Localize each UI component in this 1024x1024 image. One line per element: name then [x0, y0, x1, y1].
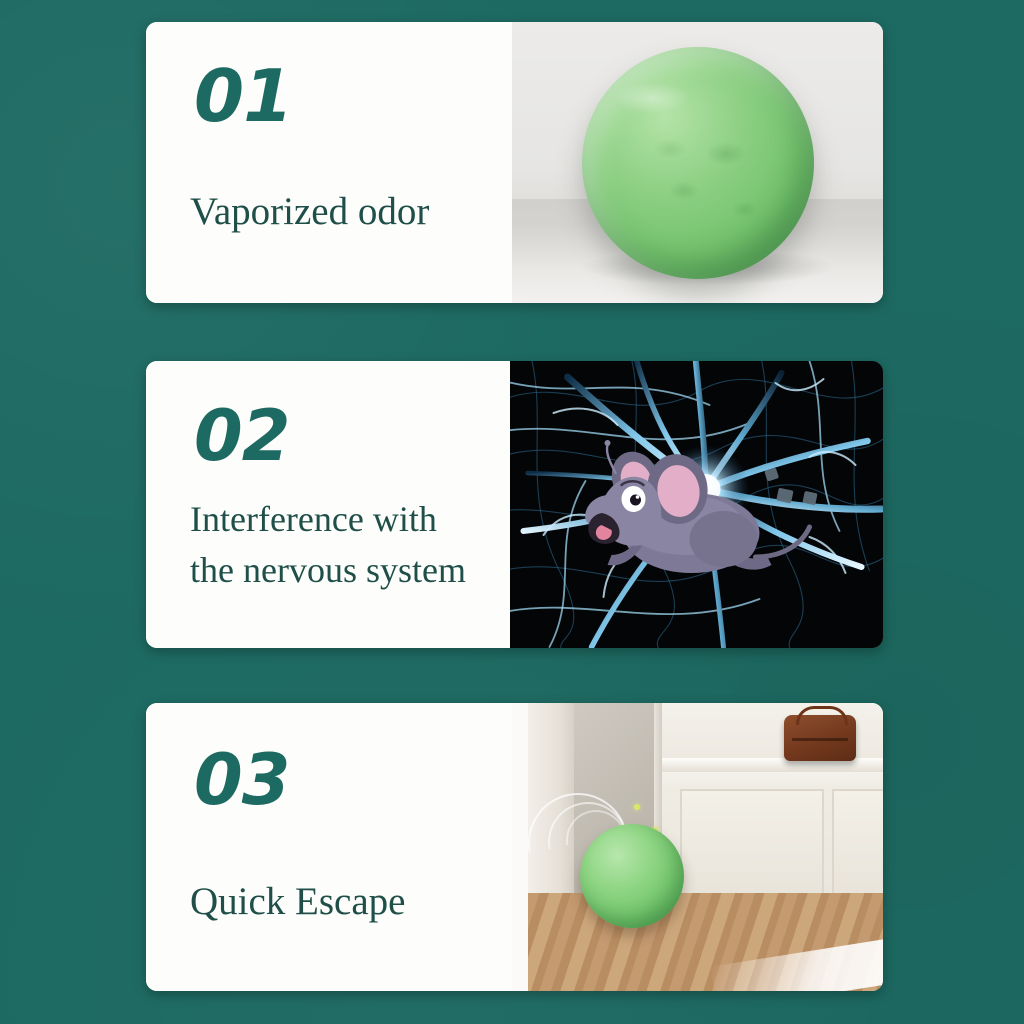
green-ball	[582, 47, 814, 279]
room-ball-photo	[512, 703, 883, 991]
room-left-white-strip	[512, 703, 528, 991]
feature-card-1[interactable]: 01 Vaporized odor	[146, 22, 883, 303]
green-ball-rolling	[580, 824, 684, 928]
green-ball-product-photo	[512, 22, 883, 303]
card-1-label-line-1: Vaporized odor	[190, 184, 482, 239]
card-2-step-number: 02	[194, 403, 480, 470]
spark-dot-1	[634, 804, 640, 810]
brown-bag	[784, 715, 856, 761]
card-2-label-line-1: Interference with	[190, 494, 480, 545]
card-3-media	[512, 703, 883, 991]
feature-card-2[interactable]: 02 Interference with the nervous system	[146, 361, 883, 648]
infographic-page: 01 Vaporized odor 02 Interference with t…	[0, 0, 1024, 1024]
card-3-step-number: 03	[194, 747, 482, 814]
card-3-text-panel: 03 Quick Escape	[146, 703, 512, 991]
card-1-step-number: 01	[194, 62, 482, 130]
cabinet-panel-right	[832, 789, 883, 897]
card-2-label: Interference with the nervous system	[190, 494, 480, 596]
wooden-floor	[528, 893, 883, 991]
card-1-text-panel: 01 Vaporized odor	[146, 22, 512, 303]
cabinet-panel-left	[680, 789, 824, 897]
card-3-label-line-1: Quick Escape	[190, 874, 482, 929]
floor-light-patch	[710, 938, 883, 991]
neuron-network-graphic	[510, 361, 883, 648]
card-2-media	[510, 361, 883, 648]
feature-card-3[interactable]: 03 Quick Escape	[146, 703, 883, 991]
card-1-media	[512, 22, 883, 303]
card-2-text-panel: 02 Interference with the nervous system	[146, 361, 510, 648]
card-1-label: Vaporized odor	[190, 184, 482, 239]
card-2-label-line-2: the nervous system	[190, 545, 480, 596]
neuron-mouse-illustration	[510, 361, 883, 648]
card-3-label: Quick Escape	[190, 874, 482, 929]
